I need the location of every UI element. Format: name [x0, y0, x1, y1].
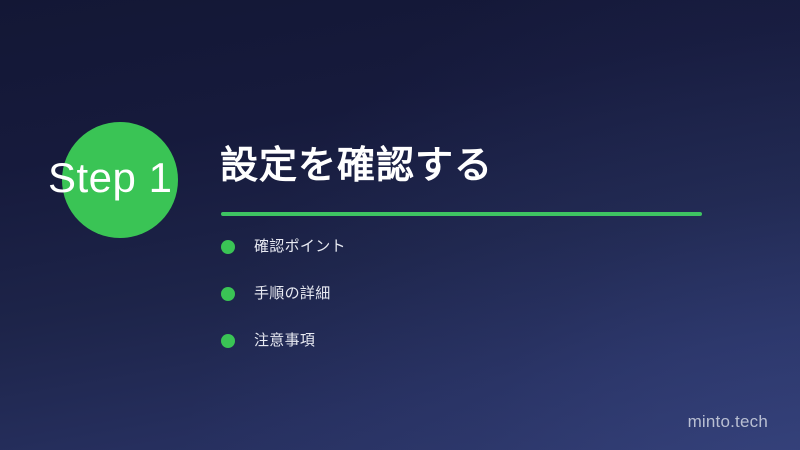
bullet-list: 確認ポイント 手順の詳細 注意事項: [221, 239, 691, 380]
list-item-label: 確認ポイント: [254, 239, 346, 255]
slide-canvas: Step 1 設定を確認する 確認ポイント 手順の詳細 注意事項 minto.t…: [0, 0, 800, 450]
list-item: 確認ポイント: [221, 239, 691, 286]
list-item: 手順の詳細: [221, 286, 691, 333]
step-badge-label: Step 1: [48, 146, 208, 210]
bullet-dot-icon: [221, 334, 235, 348]
page-title: 設定を確認する: [220, 143, 493, 191]
bullet-dot-icon: [221, 240, 235, 254]
list-item-label: 注意事項: [254, 333, 315, 349]
slide-content: Step 1 設定を確認する 確認ポイント 手順の詳細 注意事項 minto.t…: [0, 0, 800, 450]
footer-brand-watermark: minto.tech: [688, 412, 768, 432]
bullet-dot-icon: [221, 287, 235, 301]
list-item-label: 手順の詳細: [254, 286, 331, 302]
list-item: 注意事項: [221, 333, 691, 380]
title-divider: [221, 212, 702, 216]
